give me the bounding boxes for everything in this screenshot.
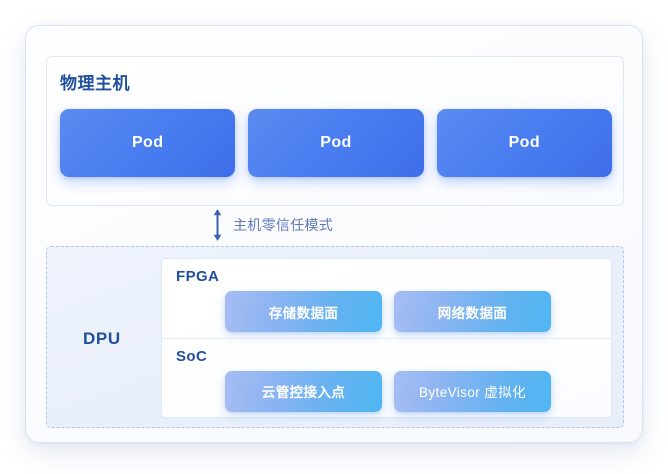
chip-label: 云管控接入点 (262, 381, 345, 401)
pod-card-1[interactable]: Pod (60, 109, 235, 177)
pod-card-label: Pod (320, 134, 351, 152)
dpu-panel: DPU FPGA 存储数据面 网络数据面 So (46, 246, 624, 428)
soc-chip-row: 云管控接入点 ByteVisor 虚拟化 (225, 371, 551, 412)
pod-row: Pod Pod Pod (60, 109, 612, 177)
chip-storage-data-plane[interactable]: 存储数据面 (225, 291, 382, 332)
host-panel: 物理主机 Pod Pod Pod (46, 56, 624, 206)
host-dpu-connector: 主机零信任模式 (46, 208, 624, 244)
chip-bytevisor-virtualization[interactable]: ByteVisor 虚拟化 (394, 371, 551, 412)
chip-cloud-control-access-point[interactable]: 云管控接入点 (225, 371, 382, 412)
dpu-unit-title: SoC (176, 348, 207, 365)
chip-label: 存储数据面 (269, 302, 339, 322)
connector-label: 主机零信任模式 (233, 215, 333, 235)
dpu-unit-soc: SoC 云管控接入点 ByteVisor 虚拟化 (162, 338, 611, 418)
architecture-card: 物理主机 Pod Pod Pod (25, 25, 643, 443)
diagram-canvas: 物理主机 Pod Pod Pod (0, 0, 668, 474)
fpga-chip-row: 存储数据面 网络数据面 (225, 291, 551, 332)
dpu-unit-title: FPGA (176, 268, 219, 285)
chip-label: ByteVisor 虚拟化 (419, 381, 526, 401)
dpu-panel-title: DPU (83, 329, 121, 349)
dpu-unit-stack: FPGA 存储数据面 网络数据面 SoC 云 (161, 258, 612, 418)
double-arrow-vertical-icon (211, 208, 224, 242)
chip-label: 网络数据面 (438, 302, 508, 322)
pod-card-label: Pod (509, 134, 540, 152)
pod-card-label: Pod (132, 134, 163, 152)
pod-card-2[interactable]: Pod (248, 109, 423, 177)
pod-card-3[interactable]: Pod (437, 109, 612, 177)
host-panel-title: 物理主机 (60, 69, 130, 94)
dpu-unit-fpga: FPGA 存储数据面 网络数据面 (162, 259, 611, 338)
chip-network-data-plane[interactable]: 网络数据面 (394, 291, 551, 332)
